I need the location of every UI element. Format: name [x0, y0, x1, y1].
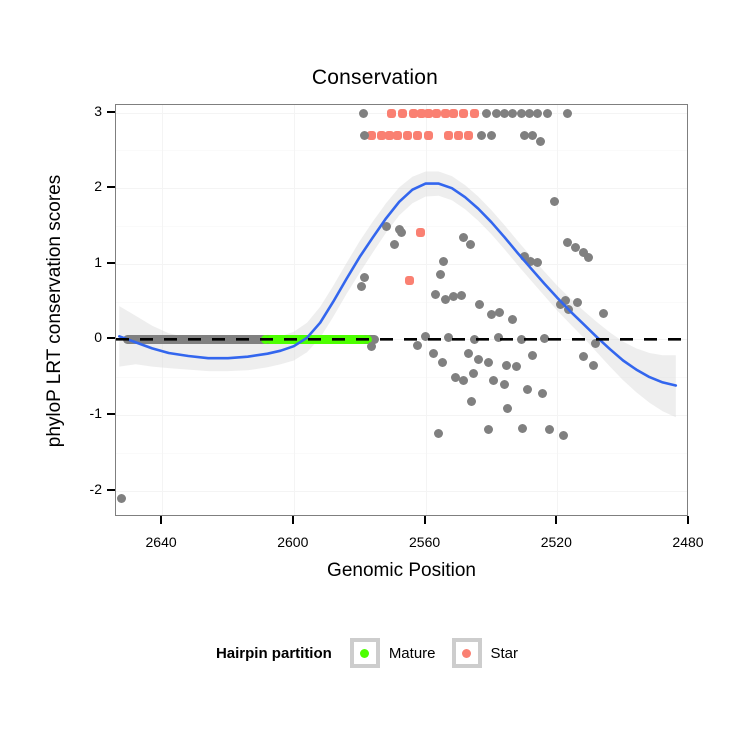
y-tick [107, 489, 115, 491]
mature-dot-icon [360, 649, 369, 658]
legend-label-mature: Mature [389, 645, 436, 662]
x-tick-label: 2560 [395, 534, 455, 550]
legend-item-mature[interactable]: Mature [350, 638, 436, 668]
legend-key-star [452, 638, 482, 668]
y-tick-label: -1 [62, 405, 102, 421]
x-tick-label: 2640 [131, 534, 191, 550]
x-tick-label: 2520 [526, 534, 586, 550]
y-tick [107, 186, 115, 188]
conservation-chart-figure: Conservation phyloP LRT conservation sco… [0, 0, 750, 750]
x-tick-label: 2480 [658, 534, 718, 550]
x-tick [555, 516, 557, 524]
legend-key-mature [350, 638, 380, 668]
y-axis-title: phyloP LRT conservation scores [44, 101, 66, 521]
legend: Hairpin partition Mature Star [0, 638, 750, 668]
x-tick [160, 516, 162, 524]
plot-panel [115, 104, 688, 516]
y-tick-label: -2 [62, 481, 102, 497]
chart-title: Conservation [0, 66, 750, 90]
y-tick [107, 413, 115, 415]
x-tick-label: 2600 [263, 534, 323, 550]
x-tick [687, 516, 689, 524]
y-tick-label: 0 [62, 329, 102, 345]
x-tick [292, 516, 294, 524]
legend-label-star: Star [491, 645, 519, 662]
x-axis-title: Genomic Position [115, 560, 688, 582]
y-tick-label: 1 [62, 254, 102, 270]
y-tick-label: 3 [62, 103, 102, 119]
star-dot-icon [462, 649, 471, 658]
x-tick [424, 516, 426, 524]
y-tick-label: 2 [62, 178, 102, 194]
legend-item-star[interactable]: Star [452, 638, 519, 668]
zero-reference-line [116, 105, 688, 516]
y-tick [107, 337, 115, 339]
y-tick [107, 111, 115, 113]
y-tick [107, 262, 115, 264]
legend-title: Hairpin partition [216, 645, 332, 662]
